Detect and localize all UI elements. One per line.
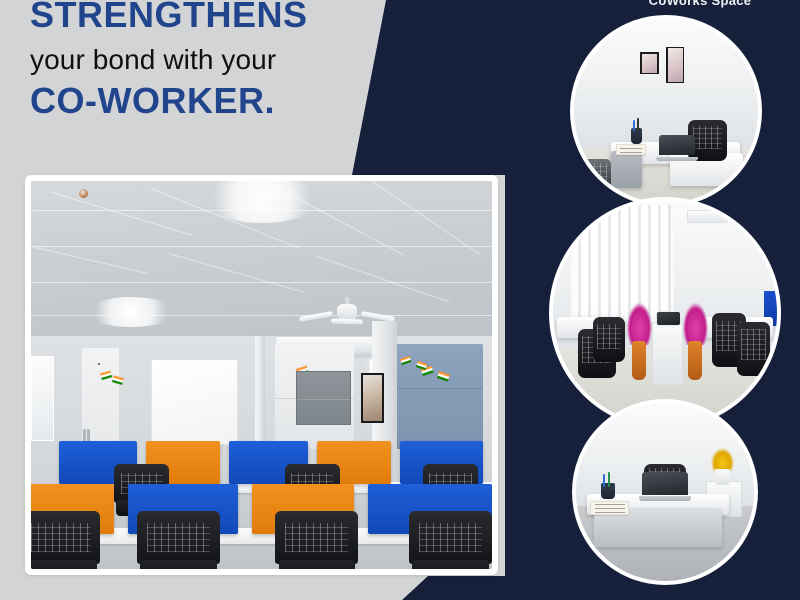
desk-pedestal-1 <box>611 151 642 188</box>
office-chair-front-1 <box>31 511 100 569</box>
main-photo-image <box>31 181 492 569</box>
circle-photo-2 <box>549 197 781 429</box>
laptop-icon-3 <box>642 472 688 500</box>
storage-cabinet-2 <box>652 322 683 385</box>
main-photo-frame <box>25 175 498 575</box>
headline-line-1: STRENGTHENS <box>30 0 370 35</box>
ceiling-fan-icon <box>317 297 377 323</box>
headline-line-3: CO-WORKER. <box>30 81 370 121</box>
monitor-icon-2 <box>656 311 681 327</box>
wall-frame-icon-2 <box>666 47 684 84</box>
pen-icon-3b <box>608 472 610 486</box>
notepad-3 <box>590 501 629 515</box>
office-chair-front-2 <box>137 511 220 569</box>
window-blinds-icon <box>571 205 674 321</box>
wall-frame-icon-1 <box>640 52 658 74</box>
pen-icon-2 <box>637 118 639 131</box>
notepad-1 <box>616 144 645 155</box>
office-chair-front-4 <box>409 511 492 569</box>
circle-photo-1 <box>570 15 762 207</box>
guest-chair-1 <box>578 159 611 192</box>
brand-name: CoWorks Space <box>600 0 800 8</box>
circle-photo-3 <box>572 399 758 585</box>
notice-board <box>98 363 100 365</box>
headline-block: STRENGTHENS your bond with your CO-WORKE… <box>30 0 370 121</box>
office-chair-left-2b <box>593 317 624 362</box>
framed-picture <box>361 373 384 423</box>
whiteboard <box>151 359 239 444</box>
laptop-icon-1 <box>659 135 696 161</box>
pen-icon-1 <box>633 120 635 131</box>
office-chair-front-3 <box>275 511 358 569</box>
air-conditioner-icon-circle <box>687 210 727 223</box>
poster-canvas: CoWorks Space STRENGTHENS your bond with… <box>0 0 800 600</box>
flower-pot-icon-3 <box>711 449 734 485</box>
grey-notice-board <box>296 371 351 425</box>
office-chair-right-2b <box>737 322 771 376</box>
flower-vase-left <box>627 304 652 380</box>
headline-line-2: your bond with your <box>30 41 370 79</box>
flower-vase-right <box>683 304 708 380</box>
glass-panel-left <box>31 356 54 441</box>
pen-icon-3a <box>603 474 605 486</box>
